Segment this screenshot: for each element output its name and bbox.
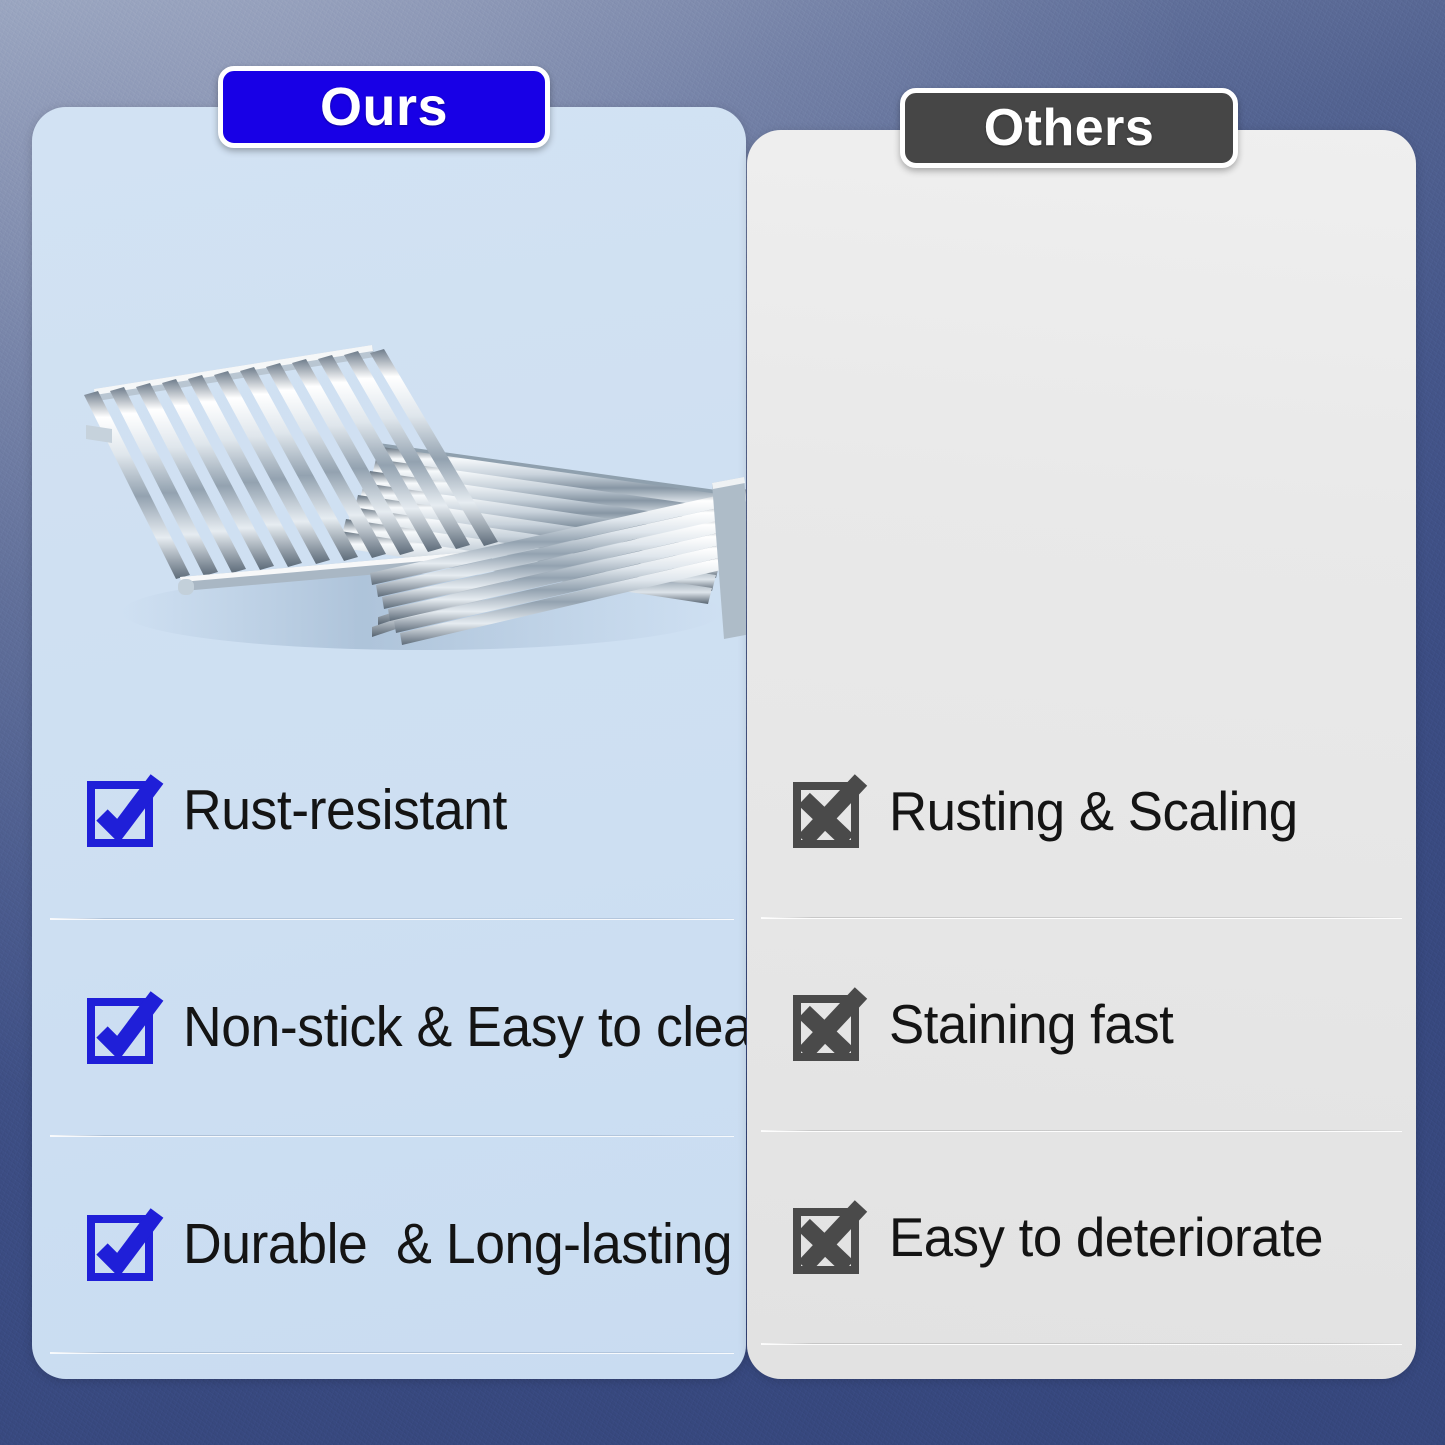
checkbox-crossed-icon — [791, 1200, 867, 1276]
row-divider — [50, 1352, 734, 1353]
checkbox-checked-icon — [85, 990, 161, 1066]
product-image-ours — [72, 327, 746, 657]
row-divider — [761, 1343, 1402, 1344]
feature-label: Rusting & Scaling — [889, 783, 1298, 841]
feature-row: Staining fast — [747, 918, 1416, 1131]
feature-row: Rust-resistant — [32, 702, 746, 919]
checkbox-crossed-icon — [791, 774, 867, 850]
badge-ours: Ours — [218, 66, 550, 148]
panel-others: Rusting & Scaling Staining fast — [747, 130, 1416, 1379]
feature-label: Easy to deteriorate — [889, 1209, 1323, 1267]
feature-list-others: Rusting & Scaling Staining fast — [747, 705, 1416, 1344]
feature-row: Non-stick & Easy to clean — [32, 919, 746, 1136]
checkbox-crossed-icon — [791, 987, 867, 1063]
feature-label: Durable & Long-lasting — [183, 1215, 732, 1275]
feature-row: Rusting & Scaling — [747, 705, 1416, 918]
checkbox-checked-icon — [85, 773, 161, 849]
badge-others: Others — [900, 88, 1238, 168]
comparison-infographic: Rust-resistant Non-stick & Easy to clean — [0, 0, 1445, 1445]
panel-ours: Rust-resistant Non-stick & Easy to clean — [32, 107, 746, 1379]
feature-row: Easy to deteriorate — [747, 1131, 1416, 1344]
feature-label: Staining fast — [889, 996, 1173, 1054]
feature-label: Rust-resistant — [183, 781, 507, 841]
feature-row: Durable & Long-lasting — [32, 1136, 746, 1353]
checkbox-checked-icon — [85, 1207, 161, 1283]
feature-list-ours: Rust-resistant Non-stick & Easy to clean — [32, 702, 746, 1353]
feature-label: Non-stick & Easy to clean — [183, 998, 746, 1058]
